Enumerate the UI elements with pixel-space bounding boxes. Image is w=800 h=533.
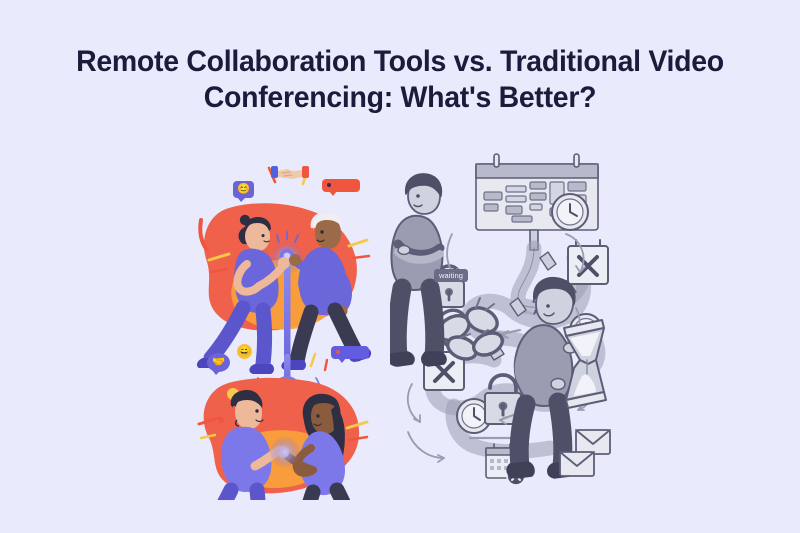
live-indicator-dot	[327, 183, 331, 187]
live-badge-bottom: LIVE	[331, 346, 369, 359]
laugh-emoji-glyph: 😄	[238, 347, 250, 357]
live-badge-label: LIVE	[343, 348, 364, 357]
envelope-lower	[560, 452, 594, 476]
laugh-emoji-icon: 😄	[237, 344, 252, 359]
page-title: Remote Collaboration Tools vs. Tradition…	[62, 44, 738, 116]
clock-top	[552, 194, 588, 230]
envelope-upper	[576, 430, 610, 454]
handshake-emoji-icon: 🤝	[212, 357, 225, 368]
handshake-emblem	[271, 166, 309, 179]
live-badge-top: LIVE	[322, 179, 360, 192]
traditional-conferencing-panel	[390, 148, 625, 500]
page-root: Remote Collaboration Tools vs. Tradition…	[0, 0, 800, 533]
collaboration-panel	[185, 148, 390, 500]
smile-emoji-bubble: 😊	[233, 181, 254, 198]
live-indicator-dot	[336, 350, 340, 354]
title-block: Remote Collaboration Tools vs. Tradition…	[50, 44, 750, 116]
handshake-emoji-bubble: 🤝	[207, 353, 230, 372]
smile-emoji-icon: 😊	[237, 184, 250, 195]
waiting-label-chip: waiting	[434, 269, 468, 282]
cancelled-calendar-top	[568, 240, 608, 284]
illustration: LIVE LIVE 😊 🤝 😄 waiting	[185, 148, 625, 500]
live-badge-label: LIVE	[334, 181, 355, 190]
